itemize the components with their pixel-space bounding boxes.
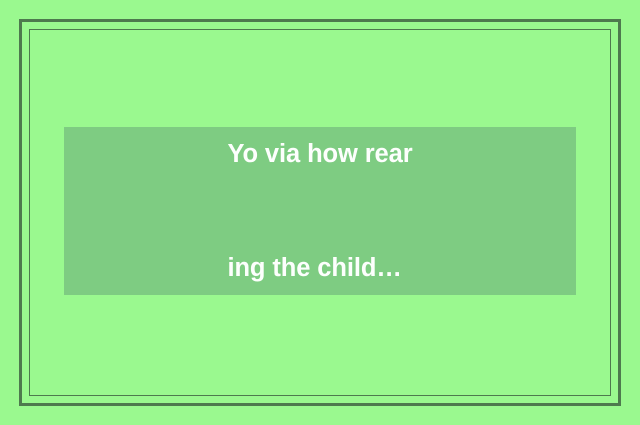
slide-canvas: Yo via how rear ing the child… [0, 0, 640, 425]
content-text-line-1: Yo via how rear [227, 135, 412, 173]
content-text-block: Yo via how rear ing the child… [227, 59, 412, 363]
content-text-line-2: ing the child… [227, 249, 412, 287]
content-panel: Yo via how rear ing the child… [64, 127, 576, 295]
